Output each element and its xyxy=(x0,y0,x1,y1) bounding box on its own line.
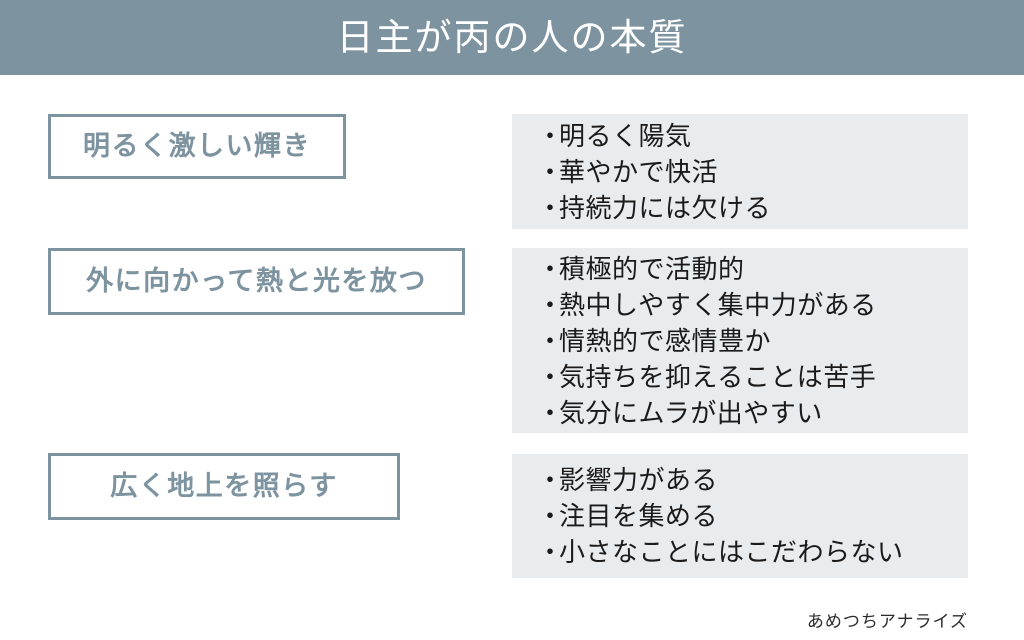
list-item-label: 華やかで快活 xyxy=(559,154,718,190)
list-item: ・ 注目を集める xyxy=(537,498,968,534)
header-bar: 日主が丙の人の本質 xyxy=(0,0,1024,75)
list-item: ・ 明るく陽気 xyxy=(537,118,968,154)
list-item: ・ 華やかで快活 xyxy=(537,154,968,190)
bullet-icon: ・ xyxy=(537,154,559,190)
section-label-text-3: 広く地上を照らす xyxy=(110,473,337,500)
bullet-icon: ・ xyxy=(537,190,559,226)
bullet-icon: ・ xyxy=(537,395,559,431)
list-item-label: 明るく陽気 xyxy=(559,118,692,154)
section-trait-panel-2: ・ 積極的で活動的 ・ 熱中しやすく集中力がある ・ 情熱的で感情豊か ・ 気持… xyxy=(512,248,968,433)
list-item-label: 積極的で活動的 xyxy=(559,251,745,287)
list-item: ・ 積極的で活動的 xyxy=(537,251,968,287)
list-item: ・ 影響力がある xyxy=(537,462,968,498)
bullet-icon: ・ xyxy=(537,462,559,498)
list-item: ・ 持続力には欠ける xyxy=(537,190,968,226)
section-label-box-1: 明るく激しい輝き xyxy=(48,114,346,179)
list-item-label: 小さなことにはこだわらない xyxy=(559,534,904,570)
section-trait-panel-3: ・ 影響力がある ・ 注目を集める ・ 小さなことにはこだわらない xyxy=(512,454,968,578)
slide-root: 日主が丙の人の本質 明るく激しい輝き ・ 明るく陽気 ・ 華やかで快活 ・ 持続… xyxy=(0,0,1024,640)
section-label-text-2: 外に向かって熱と光を放つ xyxy=(86,268,427,295)
list-item: ・ 熱中しやすく集中力がある xyxy=(537,287,968,323)
section-label-box-3: 広く地上を照らす xyxy=(48,453,400,520)
bullet-icon: ・ xyxy=(537,359,559,395)
list-item: ・ 小さなことにはこだわらない xyxy=(537,534,968,570)
bullet-icon: ・ xyxy=(537,534,559,570)
list-item-label: 気持ちを抑えることは苦手 xyxy=(559,359,876,395)
list-item-label: 気分にムラが出やすい xyxy=(559,395,823,431)
bullet-icon: ・ xyxy=(537,287,559,323)
bullet-icon: ・ xyxy=(537,251,559,287)
section-label-box-2: 外に向かって熱と光を放つ xyxy=(48,248,465,315)
list-item: ・ 気持ちを抑えることは苦手 xyxy=(537,359,968,395)
list-item-label: 持続力には欠ける xyxy=(559,190,771,226)
page-title: 日主が丙の人の本質 xyxy=(337,19,688,56)
bullet-icon: ・ xyxy=(537,323,559,359)
list-item: ・ 気分にムラが出やすい xyxy=(537,395,968,431)
footer-credit: あめつちアナライズ xyxy=(807,613,968,630)
list-item-label: 注目を集める xyxy=(559,498,718,534)
list-item: ・ 情熱的で感情豊か xyxy=(537,323,968,359)
bullet-icon: ・ xyxy=(537,118,559,154)
list-item-label: 影響力がある xyxy=(559,462,718,498)
section-trait-panel-1: ・ 明るく陽気 ・ 華やかで快活 ・ 持続力には欠ける xyxy=(512,114,968,229)
list-item-label: 熱中しやすく集中力がある xyxy=(559,287,877,323)
section-label-text-1: 明るく激しい輝き xyxy=(83,133,311,160)
bullet-icon: ・ xyxy=(537,498,559,534)
list-item-label: 情熱的で感情豊か xyxy=(559,323,771,359)
